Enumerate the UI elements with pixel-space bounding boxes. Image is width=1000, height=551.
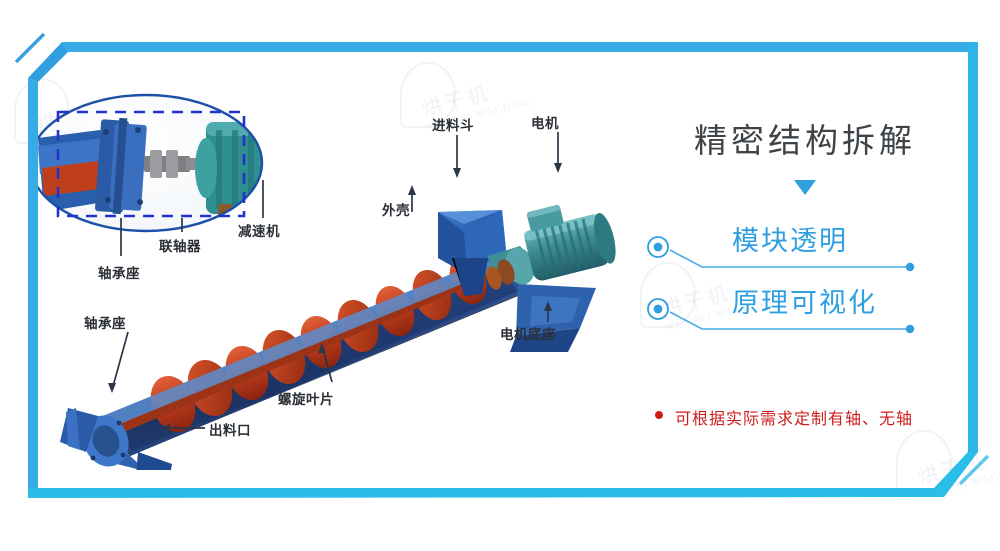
- accent-line-top-left: [16, 34, 44, 62]
- label-shell: 外壳: [382, 199, 410, 219]
- label-coupling: 联轴器: [159, 235, 201, 255]
- right-text-panel: 精密结构拆解 模块透明 原理可视化: [640, 100, 970, 440]
- feature-item-1[interactable]: 模块透明: [640, 221, 970, 279]
- feature-label-2: 原理可视化: [732, 281, 877, 320]
- label-motor-base: 电机底座: [500, 323, 556, 343]
- label-discharge-outlet: 出料口: [209, 419, 251, 439]
- label-motor: 电机: [531, 112, 559, 132]
- customization-note: 可根据实际需求定制有轴、无轴: [655, 405, 985, 429]
- label-reducer: 减速机: [238, 220, 280, 240]
- label-feed-hopper: 进料斗: [432, 114, 474, 134]
- screw-conveyor-diagram: 轴承座 联轴器 减速机 外壳 进料斗 电机 电机底座 轴承座 螺旋叶片 出料口: [20, 60, 640, 470]
- feature-label-1: 模块透明: [732, 219, 848, 258]
- label-screw-blade: 螺旋叶片: [278, 388, 334, 408]
- discharge-outlet-chute: [136, 452, 172, 470]
- customization-note-text: 可根据实际需求定制有轴、无轴: [675, 411, 913, 428]
- page-title: 精密结构拆解: [640, 114, 970, 162]
- feature-item-2[interactable]: 原理可视化: [640, 283, 970, 341]
- label-bearing-seat-top: 轴承座: [98, 262, 140, 282]
- triangle-down-icon: [794, 180, 816, 195]
- bullet-dot-icon: [655, 411, 663, 419]
- detail-callout: [30, 95, 274, 231]
- label-bearing-seat-end: 轴承座: [84, 312, 126, 332]
- poster-canvas: 烘干机 KUNPEI MACHINE 烘干机 KUNPEI MACHINE 烘干…: [0, 0, 1000, 551]
